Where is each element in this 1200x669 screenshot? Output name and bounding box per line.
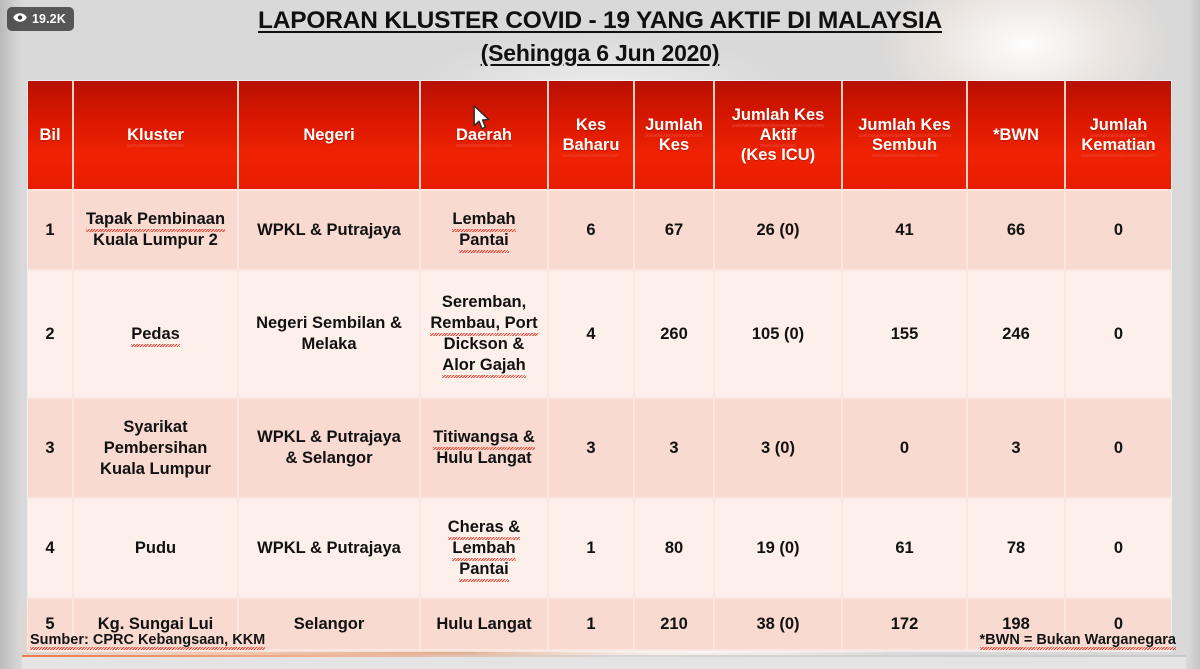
cell-kluster: Syarikat Pembersihan Kuala Lumpur [74,399,239,499]
cell-kluster-line-3: Kuala Lumpur [100,460,211,478]
header-bwn-label: *BWN [993,126,1039,144]
cell-kluster: Pedas [74,271,239,399]
source-note: Sumber: CPRC Kebangsaan, KKM [30,632,265,648]
header-kes-sembuh-line-2: Sembuh [872,135,937,155]
header-kes-baharu-line-1: Kes [576,116,606,134]
header-negeri-label: Negeri [303,126,354,144]
cell-kes-sembuh: 0 [843,399,968,499]
cell-daerah-line-2: Hulu Langat [436,449,531,467]
header-jumlah-kes-line-2: Kes [659,136,689,154]
cell-jumlah-kes: 260 [635,271,715,399]
cell-daerah: Cheras & Lembah Pantai [421,499,549,599]
bwn-legend-note: *BWN = Bukan Warganegara [980,632,1176,648]
cell-bwn: 246 [968,271,1066,399]
cell-negeri: WPKL & Putrajaya [239,191,421,271]
cell-daerah: Lembah Pantai [421,191,549,271]
cell-negeri-line-1: Negeri Sembilan & [256,314,402,332]
cell-kes-sembuh: 41 [843,191,968,271]
cell-negeri-line-2: Melaka [301,335,356,353]
footer-divider [22,655,1186,657]
cell-kematian: 0 [1066,499,1171,599]
cell-kes-sembuh: 155 [843,271,968,399]
cell-daerah-line-4: Alor Gajah [442,355,525,376]
cell-daerah: Seremban, Rembau, Port Dickson & Alor Ga… [421,271,549,399]
cell-kluster-line-1: Tapak Pembinaan [86,209,225,230]
cell-daerah-line-1: Cheras & [448,517,520,538]
cell-kluster: Pudu [74,499,239,599]
slide-title-line-1: LAPORAN KLUSTER COVID - 19 YANG AKTIF DI… [0,6,1200,36]
cell-jumlah-kes: 80 [635,499,715,599]
table-row: 2 Pedas Negeri Sembilan & Melaka Seremba… [28,271,1171,399]
cell-daerah-line-3: Dickson & [444,335,525,353]
table-row: 1 Tapak Pembinaan Kuala Lumpur 2 WPKL & … [28,191,1171,271]
viewer-count-badge: 19.2K [7,7,74,31]
header-kes-aktif: Jumlah Kes Aktif (Kes ICU) [715,81,843,191]
cell-bil: 2 [28,271,74,399]
header-kes-baharu: Kes Baharu [549,81,635,191]
cell-kluster: Tapak Pembinaan Kuala Lumpur 2 [74,191,239,271]
slide-title-line-2: (Sehingga 6 Jun 2020) [0,38,1200,68]
active-cluster-table: Bil Kluster Negeri Daerah Kes Baharu Jum… [28,81,1171,651]
header-kes-aktif-line-2: Aktif [760,125,797,145]
cell-kes-baharu: 4 [549,271,635,399]
cell-daerah-line-2: Lembah [452,538,515,559]
cell-kes-baharu: 3 [549,399,635,499]
header-kematian-line-2: Kematian [1081,135,1155,155]
slide-title-block: LAPORAN KLUSTER COVID - 19 YANG AKTIF DI… [0,6,1200,68]
cell-kes-baharu: 6 [549,191,635,271]
table-row: 3 Syarikat Pembersihan Kuala Lumpur WPKL… [28,399,1171,499]
cell-kes-baharu: 1 [549,499,635,599]
cell-bwn: 66 [968,191,1066,271]
header-negeri: Negeri [239,81,421,191]
header-kes-aktif-line-3: (Kes ICU) [741,146,815,164]
cell-kes-aktif: 26 (0) [715,191,843,271]
cell-kluster-line-1: Syarikat [123,418,187,436]
header-kluster: Kluster [74,81,239,191]
cell-bwn: 3 [968,399,1066,499]
header-kes-sembuh: Jumlah Kes Sembuh [843,81,968,191]
cell-jumlah-kes: 3 [635,399,715,499]
header-kes-aktif-line-1: Jumlah Kes [732,105,825,125]
header-jumlah-kes: Jumlah Kes [635,81,715,191]
cell-daerah-line-1: Seremban, [442,293,526,311]
header-kematian-line-1: Jumlah [1090,115,1148,135]
cell-kluster-line-2: Pembersihan [104,439,208,457]
cell-kematian: 0 [1066,271,1171,399]
cell-kes-sembuh: 61 [843,499,968,599]
footer-background [22,657,1186,669]
header-jumlah-kes-line-1: Jumlah [645,115,703,135]
stage-left-gutter [0,0,22,669]
table-row: 4 Pudu WPKL & Putrajaya Cheras & Lembah … [28,499,1171,599]
cell-daerah-line-1: Titiwangsa & [433,427,534,448]
cell-negeri: Negeri Sembilan & Melaka [239,271,421,399]
footer-notes: Sumber: CPRC Kebangsaan, KKM *BWN = Buka… [22,622,1186,658]
cell-negeri: WPKL & Putrajaya [239,499,421,599]
cell-kes-aktif: 3 (0) [715,399,843,499]
header-bil-label: Bil [39,126,60,144]
cell-negeri-line-2: & Selangor [285,449,372,467]
cell-daerah-line-3: Pantai [459,559,509,580]
cell-kematian: 0 [1066,399,1171,499]
header-kluster-label: Kluster [127,125,184,145]
cell-daerah-line-1: Lembah [452,209,515,230]
cell-negeri: WPKL & Putrajaya & Selangor [239,399,421,499]
header-bil: Bil [28,81,74,191]
cell-bil: 3 [28,399,74,499]
cell-daerah: Titiwangsa & Hulu Langat [421,399,549,499]
cell-bil: 1 [28,191,74,271]
cell-daerah-line-2: Rembau, Port [430,313,537,334]
cell-kematian: 0 [1066,191,1171,271]
header-kes-baharu-line-2: Baharu [563,135,620,155]
cell-bil: 4 [28,499,74,599]
table-header-row: Bil Kluster Negeri Daerah Kes Baharu Jum… [28,81,1171,191]
stage-right-gutter [1186,0,1200,669]
viewer-count-label: 19.2K [32,13,66,26]
video-player-stage: 19.2K LAPORAN KLUSTER COVID - 19 YANG AK… [0,0,1200,669]
header-kematian: Jumlah Kematian [1066,81,1171,191]
header-daerah: Daerah [421,81,549,191]
eye-icon [13,10,27,28]
header-bwn: *BWN [968,81,1066,191]
cell-kes-aktif: 19 (0) [715,499,843,599]
cell-kluster-line-1: Pedas [131,324,180,345]
cell-jumlah-kes: 67 [635,191,715,271]
cell-negeri-line-1: WPKL & Putrajaya [257,428,401,446]
header-daerah-label: Daerah [456,125,512,145]
cell-kes-aktif: 105 (0) [715,271,843,399]
header-kes-sembuh-line-1: Jumlah Kes [858,115,951,135]
cell-kluster-line-2: Kuala Lumpur 2 [93,231,218,249]
cell-bwn: 78 [968,499,1066,599]
cell-daerah-line-2: Pantai [459,230,509,251]
